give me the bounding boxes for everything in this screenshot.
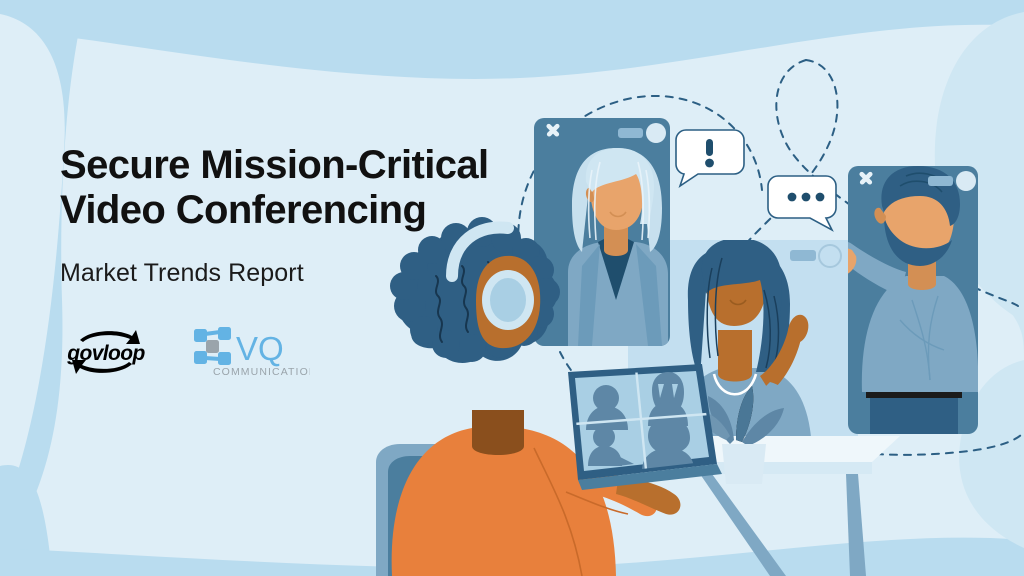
headphone-earcup-inner [490, 278, 526, 322]
title-block: Secure Mission-Critical Video Conferenci… [60, 143, 490, 288]
page-subtitle: Market Trends Report [60, 259, 490, 288]
typing-bubble-body [768, 176, 836, 230]
page-title: Secure Mission-Critical Video Conferenci… [60, 143, 490, 233]
desk-leg-right [846, 474, 866, 576]
window-woman-grey-hair [534, 118, 670, 346]
plant-pot [722, 444, 766, 484]
vq-nodes-icon [194, 327, 231, 365]
window2-trousers [870, 392, 958, 434]
typing-bubble [768, 176, 836, 230]
alert-bubble-exclamation-stem-icon [706, 139, 713, 156]
person-neck [472, 410, 524, 455]
typing-bubble-dot-2-icon [802, 193, 811, 202]
alert-bubble-body [676, 130, 744, 186]
window1-toggle-pill-icon[interactable] [618, 128, 643, 138]
vq-wordmark: VQ [236, 330, 284, 367]
center-woman-neck [718, 330, 752, 382]
laptop [568, 364, 722, 490]
vq-tagline: COMMUNICATIONS [213, 366, 310, 378]
window2-toggle-knob-icon[interactable] [956, 171, 976, 191]
desk-leg-left [700, 474, 786, 576]
govloop-logo[interactable]: govloop [60, 326, 152, 378]
window2-toggle-pill-icon[interactable] [928, 176, 953, 186]
govloop-wordmark: govloop [66, 342, 145, 365]
typing-bubble-dot-1-icon [788, 193, 797, 202]
typing-bubble-dot-3-icon [816, 193, 825, 202]
alert-bubble [676, 130, 744, 186]
alert-bubble-exclamation-dot-icon [705, 159, 714, 168]
vq-communications-logo[interactable]: VQ COMMUNICATIONS [192, 325, 310, 379]
window1-toggle-knob-icon[interactable] [646, 123, 666, 143]
center-panel-toggle-pill-icon[interactable] [790, 250, 816, 261]
logo-row: govloop VQ COMMUNICATIONS [60, 325, 310, 379]
cover-artwork: Secure Mission-Critical Video Conferenci… [0, 0, 1024, 576]
